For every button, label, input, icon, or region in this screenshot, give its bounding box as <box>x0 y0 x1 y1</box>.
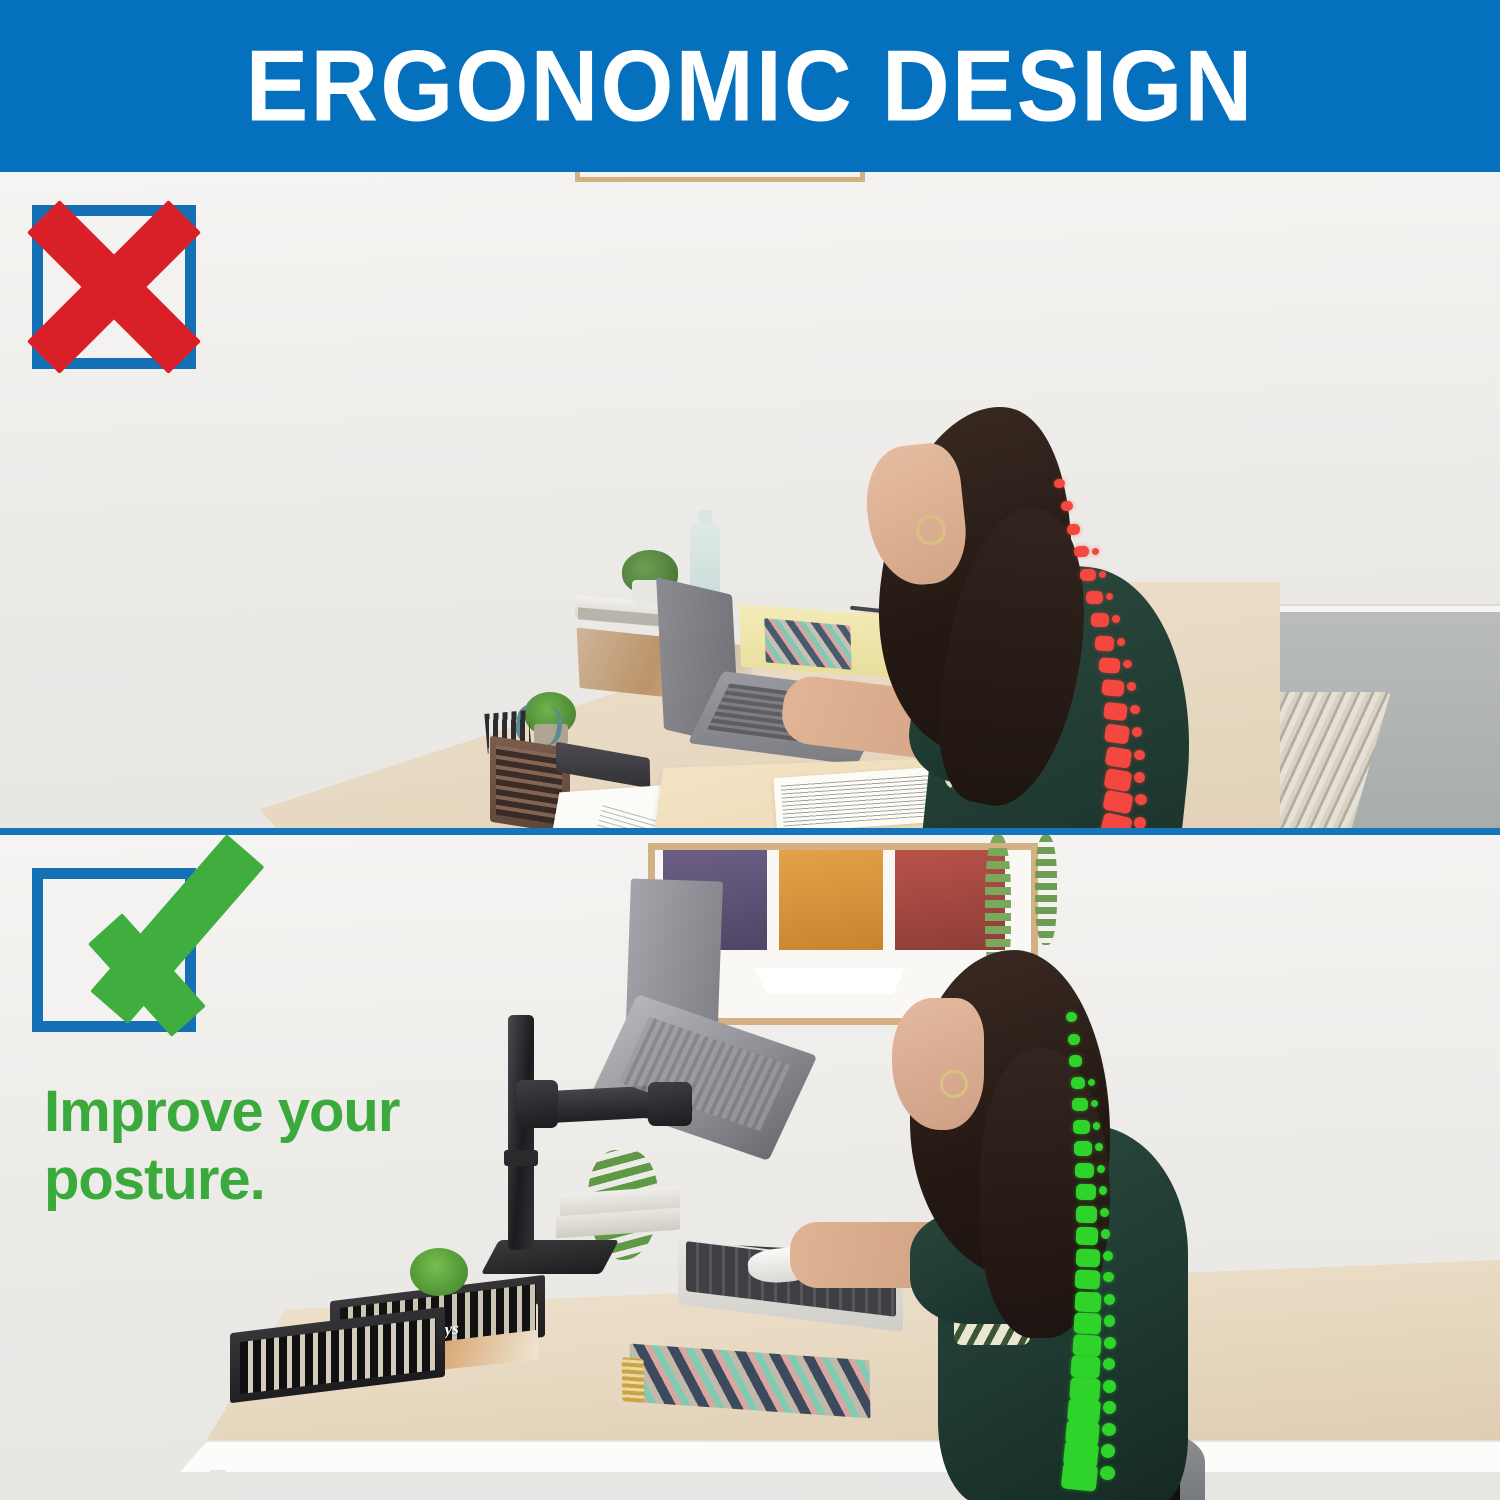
mount-joint-inner <box>516 1080 558 1128</box>
vertebra <box>1072 1334 1101 1357</box>
spinous-process <box>1095 1143 1103 1151</box>
mount-pole <box>508 1015 534 1250</box>
person-upright <box>880 940 1280 1500</box>
ergonomic-design-infographic: ERGONOMIC DESIGN <box>0 0 1500 1500</box>
vertebra <box>1061 500 1074 511</box>
picture-frame-edge-icon <box>575 172 865 182</box>
vertebra <box>1074 1291 1101 1312</box>
panel-divider <box>0 828 1500 835</box>
spinous-process <box>1133 749 1145 761</box>
person-slouching <box>860 387 1240 831</box>
spinous-process <box>1099 571 1106 578</box>
spinous-process <box>1127 682 1137 692</box>
spinous-process <box>1131 726 1142 737</box>
face-profile <box>861 440 971 589</box>
spinous-process <box>1103 1272 1114 1283</box>
vertebra <box>1103 702 1128 721</box>
spinous-process <box>1134 793 1148 806</box>
vertebra <box>1075 1163 1094 1178</box>
spinous-process <box>1099 1186 1108 1195</box>
vertebra <box>1105 746 1133 769</box>
face-profile <box>892 998 984 1130</box>
vertebra <box>1054 478 1066 488</box>
spinous-process <box>1102 1400 1117 1414</box>
badge-incorrect <box>32 205 196 369</box>
desk-plant-icon <box>410 1248 468 1296</box>
spinous-process <box>1130 705 1141 715</box>
pen-holder-slats <box>496 745 562 825</box>
vertebra <box>1071 1077 1085 1089</box>
spinous-process <box>1101 1229 1111 1239</box>
vertebra <box>1069 1055 1082 1067</box>
vertebra <box>1073 1312 1101 1334</box>
spinous-process <box>1099 1465 1115 1481</box>
vertebra <box>1061 1462 1099 1492</box>
artwork-panel-2 <box>779 850 883 950</box>
spinous-process <box>1103 1358 1116 1371</box>
vertebra <box>1076 1249 1101 1268</box>
vertebra <box>1102 790 1133 815</box>
vertebra <box>1101 679 1124 697</box>
desk-edge <box>180 1442 1500 1472</box>
mount-pole-band <box>504 1150 538 1166</box>
vertebra <box>1099 657 1121 673</box>
vertebra <box>1072 1098 1088 1111</box>
spinous-process <box>1117 638 1125 647</box>
vertebra <box>1075 1269 1101 1289</box>
vertebra <box>1070 1355 1100 1379</box>
vertebra <box>1076 1184 1096 1200</box>
spinous-process <box>1104 1315 1116 1327</box>
spinous-process <box>1104 1294 1115 1306</box>
spinous-process <box>1112 615 1120 623</box>
spinous-process <box>1091 1100 1098 1107</box>
vertebra <box>1073 1120 1090 1134</box>
vertebra <box>1067 524 1081 536</box>
hoop-earring-icon <box>940 1070 968 1098</box>
spine-overlay-good <box>1052 1010 1162 1500</box>
notebook-spiral-binding <box>622 1357 645 1403</box>
spinous-process <box>1093 1122 1100 1130</box>
vertebra <box>1074 1141 1092 1156</box>
spinous-process <box>1088 1079 1095 1086</box>
spinous-process <box>1097 1165 1105 1173</box>
spinous-process <box>1092 548 1099 555</box>
badge-correct <box>32 868 196 1032</box>
mount-joint-outer <box>648 1082 692 1126</box>
spinous-process <box>1100 1208 1109 1217</box>
vertebra <box>1091 613 1109 627</box>
desk-leg <box>210 1470 226 1500</box>
spinous-process <box>1103 1251 1113 1261</box>
spinous-process <box>1100 1443 1116 1458</box>
spinous-process <box>1106 593 1113 600</box>
mount-desk-clamp-base <box>481 1240 619 1274</box>
hanging-vine-icon-2 <box>1035 835 1057 945</box>
check-mark-icon <box>36 846 256 1046</box>
hoop-earring-icon <box>916 515 946 545</box>
spinous-process <box>1123 660 1132 669</box>
spinous-process <box>1103 1380 1116 1393</box>
vertebra <box>1086 591 1103 604</box>
vertebra <box>1095 636 1115 652</box>
spinous-process <box>1133 771 1146 784</box>
vertebra <box>1080 569 1096 581</box>
spine-overlay-bad <box>1048 475 1178 831</box>
patterned-notebook <box>764 618 851 670</box>
page-title: ERGONOMIC DESIGN <box>246 35 1255 137</box>
vertebra <box>1076 1206 1097 1223</box>
spinous-process <box>1101 1422 1116 1436</box>
vertebra <box>1104 723 1130 744</box>
spinous-process <box>1104 1337 1117 1349</box>
panel-bad-posture <box>0 172 1500 831</box>
vertebra <box>1068 1034 1080 1045</box>
cta-improve-posture: Improve your posture. <box>44 1078 474 1215</box>
vertebra <box>1103 768 1132 792</box>
x-mark-icon <box>18 191 210 383</box>
vertebra <box>1066 1012 1077 1022</box>
vertebra <box>1074 546 1089 558</box>
header-banner: ERGONOMIC DESIGN <box>0 0 1500 172</box>
vertebra <box>1076 1227 1099 1246</box>
